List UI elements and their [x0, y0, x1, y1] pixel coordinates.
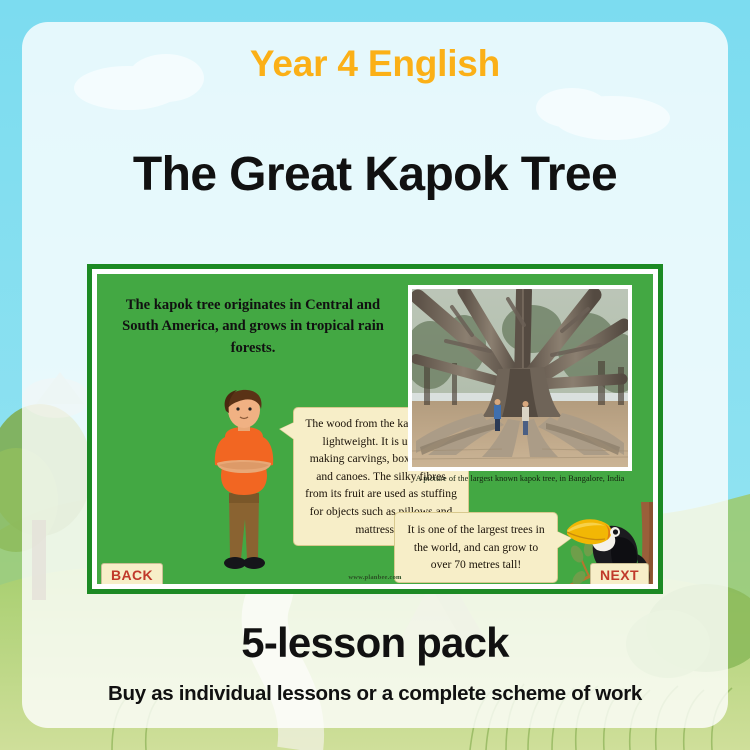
subject-label: Year 4 English [0, 43, 750, 85]
boy-character-svg [201, 389, 287, 584]
bubble-tail-left [280, 422, 295, 440]
speech-bubble-size-facts: It is one of the largest trees in the wo… [394, 512, 558, 583]
kapok-tree-photo-svg [412, 289, 628, 467]
photo-caption: A picture of the largest known kapok tre… [403, 474, 637, 483]
slide-inner-frame: The kapok tree originates in Central and… [92, 269, 658, 589]
slide-heading-text: The kapok tree originates in Central and… [119, 295, 387, 359]
back-button[interactable]: BACK [101, 563, 163, 584]
tagline-text: Buy as individual lessons or a complete … [0, 682, 750, 706]
slide-canvas: The kapok tree originates in Central and… [97, 274, 653, 584]
next-button[interactable]: NEXT [590, 563, 649, 584]
kapok-tree-photo [408, 285, 632, 471]
lesson-slide-preview[interactable]: The kapok tree originates in Central and… [87, 264, 663, 594]
pack-label: 5-lesson pack [0, 619, 750, 667]
page-title: The Great Kapok Tree [0, 147, 750, 202]
bubble-text: It is one of the largest trees in the wo… [407, 523, 544, 571]
site-watermark: www.planbee.com [97, 574, 653, 581]
boy-character-icon [201, 389, 287, 584]
